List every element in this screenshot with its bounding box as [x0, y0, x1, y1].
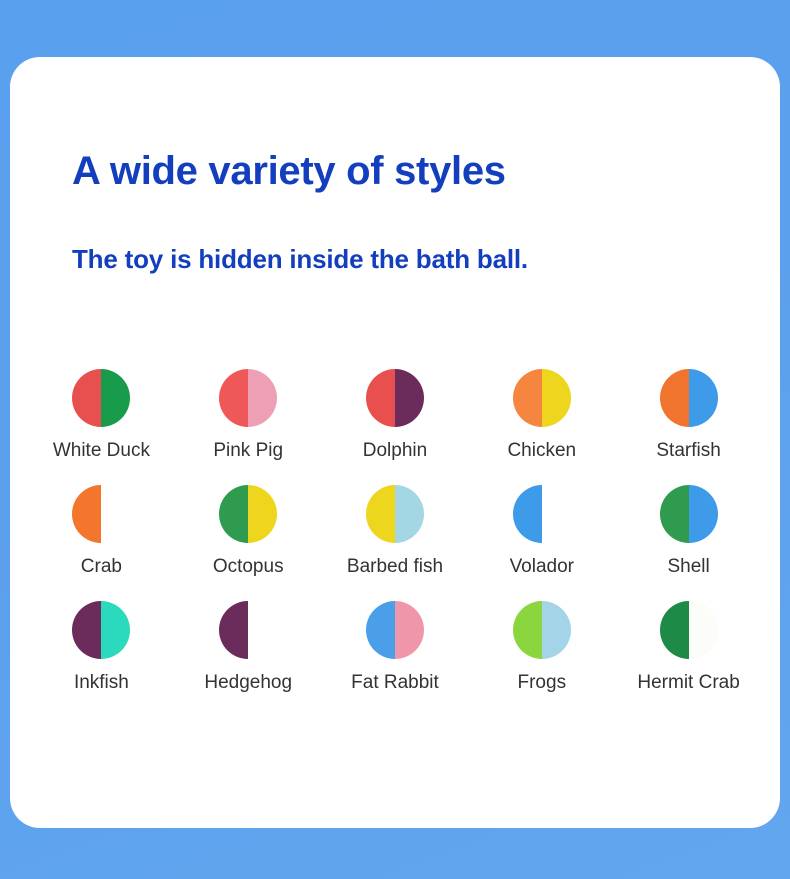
ball-left-half [366, 601, 395, 659]
ball-right-half [101, 485, 130, 543]
ball-left-half [513, 485, 542, 543]
bath-ball-icon [366, 485, 424, 543]
style-item[interactable]: Shell [615, 485, 762, 579]
ball-left-half [660, 601, 689, 659]
style-item[interactable]: Hedgehog [175, 601, 322, 695]
style-item[interactable]: Chicken [468, 369, 615, 463]
style-item-label: Inkfish [74, 672, 129, 695]
style-item-label: Pink Pig [213, 440, 283, 463]
ball-left-half [513, 369, 542, 427]
ball-right-half [542, 369, 571, 427]
style-item-label: Fat Rabbit [351, 672, 439, 695]
ball-left-half [366, 485, 395, 543]
bath-ball-icon [513, 369, 571, 427]
bath-ball-icon [72, 485, 130, 543]
ball-right-half [248, 485, 277, 543]
style-item[interactable]: Barbed fish [322, 485, 469, 579]
style-item[interactable]: Pink Pig [175, 369, 322, 463]
style-item[interactable]: Volador [468, 485, 615, 579]
ball-left-half [72, 601, 101, 659]
style-item-label: Starfish [656, 440, 720, 463]
bath-ball-icon [72, 369, 130, 427]
ball-left-half [513, 601, 542, 659]
bath-ball-icon [219, 485, 277, 543]
style-item-label: Hermit Crab [637, 672, 739, 695]
style-item-label: Octopus [213, 556, 284, 579]
ball-left-half [72, 485, 101, 543]
styles-grid: White DuckPink PigDolphinChickenStarfish… [10, 369, 780, 694]
heading-block: A wide variety of styles The toy is hidd… [10, 57, 780, 274]
style-item-label: Chicken [507, 440, 576, 463]
ball-left-half [219, 485, 248, 543]
ball-right-half [542, 485, 571, 543]
style-item-label: Crab [81, 556, 122, 579]
ball-right-half [101, 369, 130, 427]
page-background: A wide variety of styles The toy is hidd… [0, 0, 790, 879]
bath-ball-icon [219, 369, 277, 427]
bath-ball-icon [72, 601, 130, 659]
style-item[interactable]: Starfish [615, 369, 762, 463]
content-card: A wide variety of styles The toy is hidd… [10, 57, 780, 828]
bath-ball-icon [660, 485, 718, 543]
ball-right-half [248, 601, 277, 659]
ball-left-half [660, 369, 689, 427]
ball-right-half [248, 369, 277, 427]
style-item-label: Dolphin [363, 440, 427, 463]
bath-ball-icon [219, 601, 277, 659]
bath-ball-icon [660, 601, 718, 659]
style-item[interactable]: Crab [28, 485, 175, 579]
page-subtitle: The toy is hidden inside the bath ball. [72, 245, 780, 274]
bath-ball-icon [660, 369, 718, 427]
bath-ball-icon [366, 601, 424, 659]
style-item-label: Shell [667, 556, 709, 579]
bath-ball-icon [366, 369, 424, 427]
style-item-label: Hedgehog [204, 672, 292, 695]
ball-right-half [395, 369, 424, 427]
style-item[interactable]: Frogs [468, 601, 615, 695]
style-item[interactable]: Octopus [175, 485, 322, 579]
ball-right-half [689, 369, 718, 427]
style-item-label: White Duck [53, 440, 150, 463]
ball-right-half [689, 601, 718, 659]
bath-ball-icon [513, 485, 571, 543]
bath-ball-icon [513, 601, 571, 659]
ball-right-half [689, 485, 718, 543]
style-item[interactable]: Hermit Crab [615, 601, 762, 695]
style-item[interactable]: Fat Rabbit [322, 601, 469, 695]
style-item[interactable]: Dolphin [322, 369, 469, 463]
page-title: A wide variety of styles [72, 149, 780, 193]
style-item[interactable]: Inkfish [28, 601, 175, 695]
ball-left-half [219, 369, 248, 427]
ball-left-half [366, 369, 395, 427]
ball-left-half [72, 369, 101, 427]
ball-right-half [542, 601, 571, 659]
ball-right-half [395, 601, 424, 659]
style-item-label: Volador [510, 556, 574, 579]
style-item-label: Barbed fish [347, 556, 443, 579]
ball-right-half [101, 601, 130, 659]
ball-left-half [219, 601, 248, 659]
ball-right-half [395, 485, 424, 543]
style-item-label: Frogs [518, 672, 567, 695]
style-item[interactable]: White Duck [28, 369, 175, 463]
ball-left-half [660, 485, 689, 543]
